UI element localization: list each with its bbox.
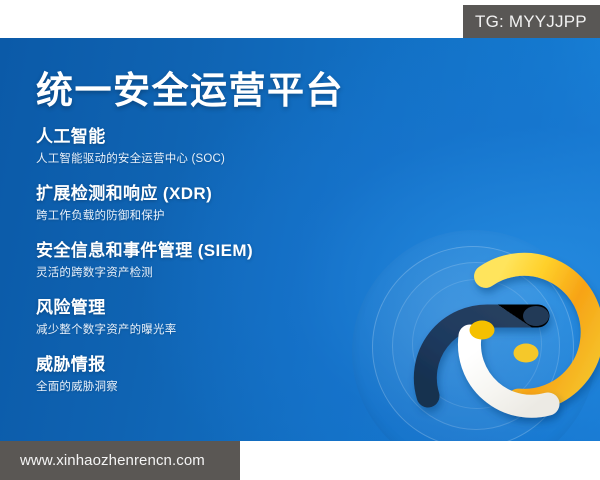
poster-image: TG: MYYJJPP [0,0,600,480]
yellow-cap-dot-lower [514,344,539,363]
page-title: 统一安全运营平台 [36,60,344,114]
feature-title: 安全信息和事件管理 (SIEM) [36,240,366,262]
feature-title: 扩展检测和响应 (XDR) [36,183,366,205]
feature-item-threat-intel: 威胁情报 全面的威胁洞察 [36,354,366,396]
feature-list: 人工智能 人工智能驱动的安全运营中心 (SOC) 扩展检测和响应 (XDR) 跨… [36,126,366,396]
feature-item-risk: 风险管理 减少整个数字资产的曝光率 [36,297,366,339]
blue-poster-panel: 统一安全运营平台 人工智能 人工智能驱动的安全运营中心 (SOC) 扩展检测和响… [0,38,600,441]
navy-cap-dot [523,306,549,326]
white-arc [469,336,548,406]
swirl-logo-graphic [330,208,600,441]
feature-subtitle: 人工智能驱动的安全运营中心 (SOC) [36,150,366,168]
feature-subtitle: 灵活的跨数字资产检测 [36,264,366,282]
feature-subtitle: 全面的威胁洞察 [36,378,366,396]
feature-item-xdr: 扩展检测和响应 (XDR) 跨工作负载的防御和保护 [36,183,366,225]
feature-title: 威胁情报 [36,354,366,376]
yellow-cap-dot-upper [470,321,495,340]
feature-title: 人工智能 [36,126,366,148]
feature-subtitle: 跨工作负载的防御和保护 [36,207,366,225]
feature-title: 风险管理 [36,297,366,319]
feature-item-siem: 安全信息和事件管理 (SIEM) 灵活的跨数字资产检测 [36,240,366,282]
tg-watermark-badge: TG: MYYJJPP [463,5,600,38]
feature-subtitle: 减少整个数字资产的曝光率 [36,321,366,339]
site-watermark: www.xinhaozhenrencn.com [0,441,240,480]
feature-item-ai: 人工智能 人工智能驱动的安全运营中心 (SOC) [36,126,366,168]
